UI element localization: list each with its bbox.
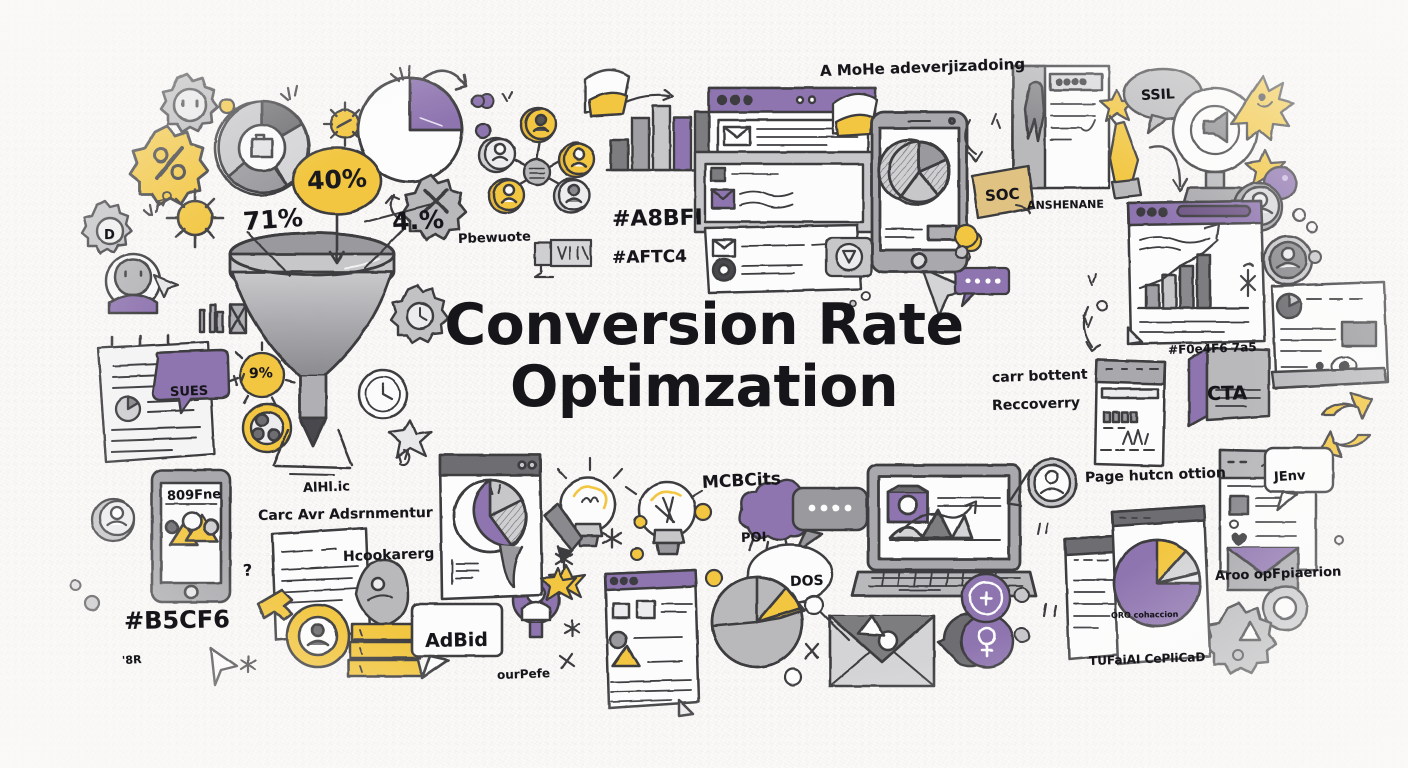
label-hex-f0f67a5: #F0e4F6 7a5	[1168, 340, 1257, 357]
label-ourpefe: ourPefe	[497, 666, 550, 682]
label-cart-abandonment-1: carr bottent	[992, 367, 1088, 386]
label-roi-cloud: POI	[741, 530, 767, 546]
label-page-option: Page hutcn ottion	[1085, 465, 1226, 486]
label-laptop-chart-caption: ORO cohaccion	[1111, 610, 1178, 620]
label-hex-b5cf6: #B5CF6	[124, 605, 230, 635]
label-jen-bubble: JEnv	[1274, 468, 1306, 485]
label-small-8r: '8R	[122, 653, 142, 667]
label-hex-a8bff: #A8BFI	[612, 205, 703, 232]
label-adbid: AdBid	[425, 629, 488, 652]
label-pct-9: 9%	[249, 365, 273, 382]
label-gear-d: D	[104, 228, 115, 243]
label-cart-abandonment-2: Reccoverry	[992, 395, 1081, 414]
label-ad-optimization: Aroo opFpiaerion	[1215, 565, 1342, 584]
label-cart-adornment: Carc Avr Adsrnmentur	[258, 505, 433, 524]
label-mobile-advertising: A MoHe adeverjizadoing	[820, 55, 1026, 80]
funnel-badge-value: 40%	[306, 163, 367, 195]
funnel-left-label: 71%	[242, 203, 304, 236]
label-traffic-certified: TUFaiAI CePliCaD	[1089, 650, 1206, 668]
label-promote: Pbewuote	[458, 229, 531, 247]
label-question-mark: ?	[242, 560, 253, 580]
label-dos-bubble: DOS	[790, 573, 824, 590]
handwritten-labels-layer: A MoHe adeverjizadoing#A8BFI#AFTC4Pbewuo…	[0, 0, 1408, 768]
funnel-right-label: 4.%	[391, 205, 444, 237]
label-soc-note: SOC	[984, 185, 1020, 205]
label-attribute: ANSHENANE	[1027, 198, 1104, 212]
illustration-canvas: A MoHe adeverjizadoing#A8BFI#AFTC4Pbewuo…	[0, 0, 1408, 768]
label-phone-roofie: 809Fne	[167, 487, 222, 504]
label-hex-aftc4: #AFTC4	[612, 247, 687, 268]
label-mcbcits: MCBCits	[701, 469, 781, 493]
label-heatmap: Hcookarerg	[343, 546, 435, 565]
label-analytics: AlHl.ic	[303, 479, 350, 496]
label-sues-bubble: SUES	[170, 384, 209, 400]
label-cta-book: CTA	[1207, 382, 1248, 405]
label-ssil: SSIL	[1141, 86, 1175, 104]
